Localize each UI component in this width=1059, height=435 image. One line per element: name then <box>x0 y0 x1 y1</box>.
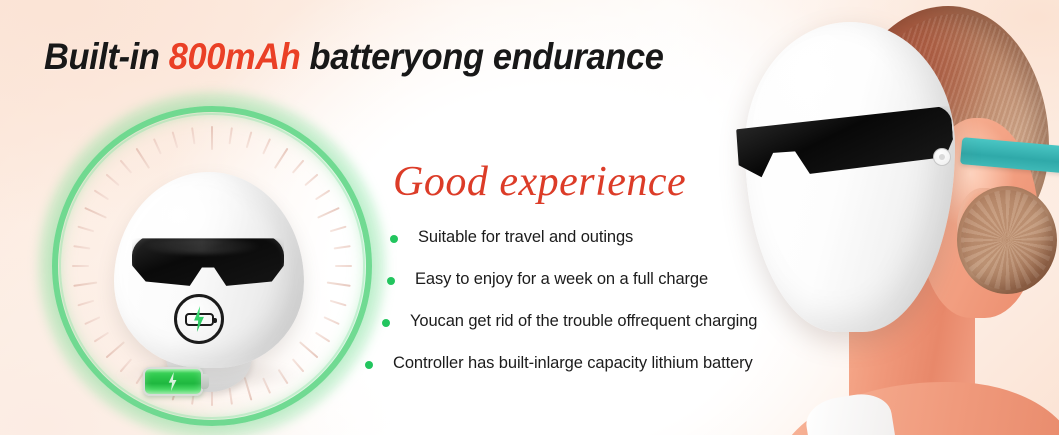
page-title: Built-in 800mAh batteryong endurance <box>44 36 663 78</box>
bullet-dot-icon <box>387 277 395 285</box>
bullet-dot-icon <box>382 319 390 327</box>
worn-mask-shell <box>745 22 955 332</box>
battery-bolt-icon <box>143 367 209 396</box>
list-item-label: Suitable for travel and outings <box>418 228 633 246</box>
list-item-label: Easy to enjoy for a week on a full charg… <box>415 270 708 288</box>
section-subtitle: Good experience <box>393 158 686 206</box>
hair-bun-texture <box>961 190 1053 290</box>
mask-controller-device <box>108 172 308 387</box>
device-visor-highlight <box>142 238 262 254</box>
power-button-icon <box>933 148 951 166</box>
bullet-dot-icon <box>365 361 373 369</box>
battery-cap <box>201 374 209 389</box>
bullet-dot-icon <box>390 235 398 243</box>
headline-accent-capacity: 800mAh <box>169 36 301 77</box>
battery-charging-icon <box>174 294 224 344</box>
led-mask-promo-banner: Built-in 800mAh batteryong endurance Goo… <box>0 0 1059 435</box>
model-photo <box>689 0 1059 435</box>
headline-suffix: batteryong endurance <box>300 36 663 77</box>
headline-prefix: Built-in <box>44 36 169 77</box>
